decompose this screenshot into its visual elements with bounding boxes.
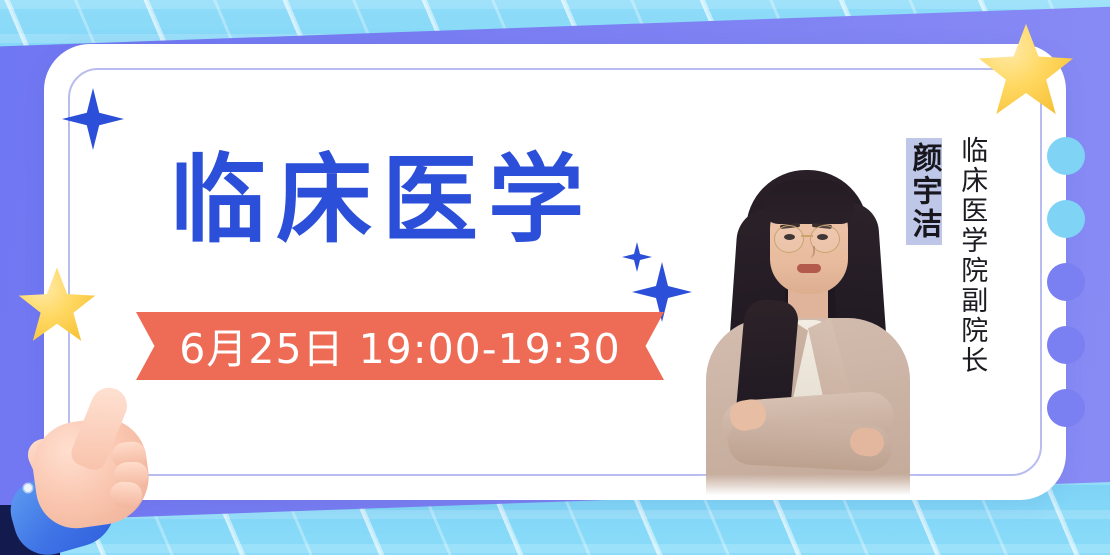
portrait-bottom-fade xyxy=(700,474,915,500)
hand-knuckle-3 xyxy=(109,481,143,508)
ticket-notch-3 xyxy=(1047,263,1085,301)
portrait-lips xyxy=(797,264,821,273)
ticket-notch-4 xyxy=(1047,326,1085,364)
schedule-text: 6月25日 19:00-19:30 xyxy=(179,315,620,375)
promo-banner: 临床医学 6月25日 19:00-19:30 颜宇洁 临床医学院副院长 xyxy=(0,0,1110,555)
ticket-notch-5 xyxy=(1047,389,1085,427)
portrait-glasses-bridge xyxy=(801,235,813,237)
speaker-portrait xyxy=(700,150,915,500)
pointing-hand-cursor xyxy=(8,392,184,555)
portrait-fringe xyxy=(764,180,854,224)
ticket-notch-2 xyxy=(1047,200,1085,238)
ticket-notch-1 xyxy=(1047,137,1085,175)
hand-cuff-button xyxy=(24,484,32,492)
speaker-role: 临床医学院副院长 xyxy=(956,136,986,376)
speaker-name: 颜宇洁 xyxy=(906,138,942,245)
page-title: 临床医学 xyxy=(170,152,594,248)
portrait-glasses-left xyxy=(774,225,804,253)
schedule-ribbon: 6月25日 19:00-19:30 xyxy=(136,312,664,380)
